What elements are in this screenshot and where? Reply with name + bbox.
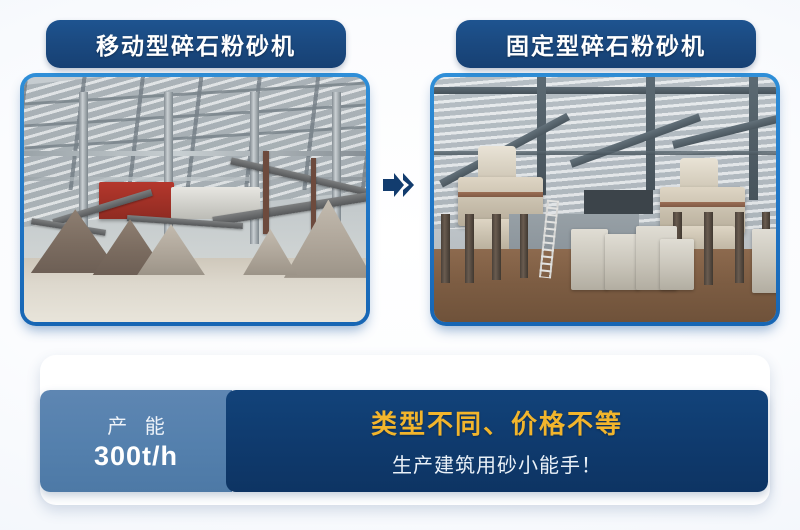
- tab-stationary-crusher-label: 固定型碎石粉砂机: [506, 27, 706, 61]
- comparison-stage: 移动型碎石粉砂机 固定型碎石粉砂机: [0, 0, 800, 530]
- tab-mobile-crusher[interactable]: 移动型碎石粉砂机: [46, 20, 346, 68]
- capacity-label: 产 能: [101, 410, 171, 439]
- photo-panel-stationary[interactable]: [430, 73, 780, 326]
- stationary-crusher-sand-machine-photo: [434, 77, 776, 322]
- message-segment: 类型不同、价格不等 生产建筑用砂小能手！: [226, 390, 768, 492]
- capacity-value: 300t/h: [94, 441, 178, 472]
- tab-mobile-crusher-label: 移动型碎石粉砂机: [96, 27, 296, 61]
- mobile-crusher-sand-machine-photo: [24, 77, 366, 322]
- double-chevron-right-icon: [383, 172, 419, 198]
- photo-panel-mobile[interactable]: [20, 73, 370, 326]
- tab-stationary-crusher[interactable]: 固定型碎石粉砂机: [456, 20, 756, 68]
- capacity-info-bar: 产 能 300t/h 类型不同、价格不等 生产建筑用砂小能手！: [40, 390, 768, 492]
- capacity-segment: 产 能 300t/h: [40, 390, 232, 492]
- message-subline: 生产建筑用砂小能手！: [392, 449, 602, 478]
- message-headline: 类型不同、价格不等: [371, 404, 623, 441]
